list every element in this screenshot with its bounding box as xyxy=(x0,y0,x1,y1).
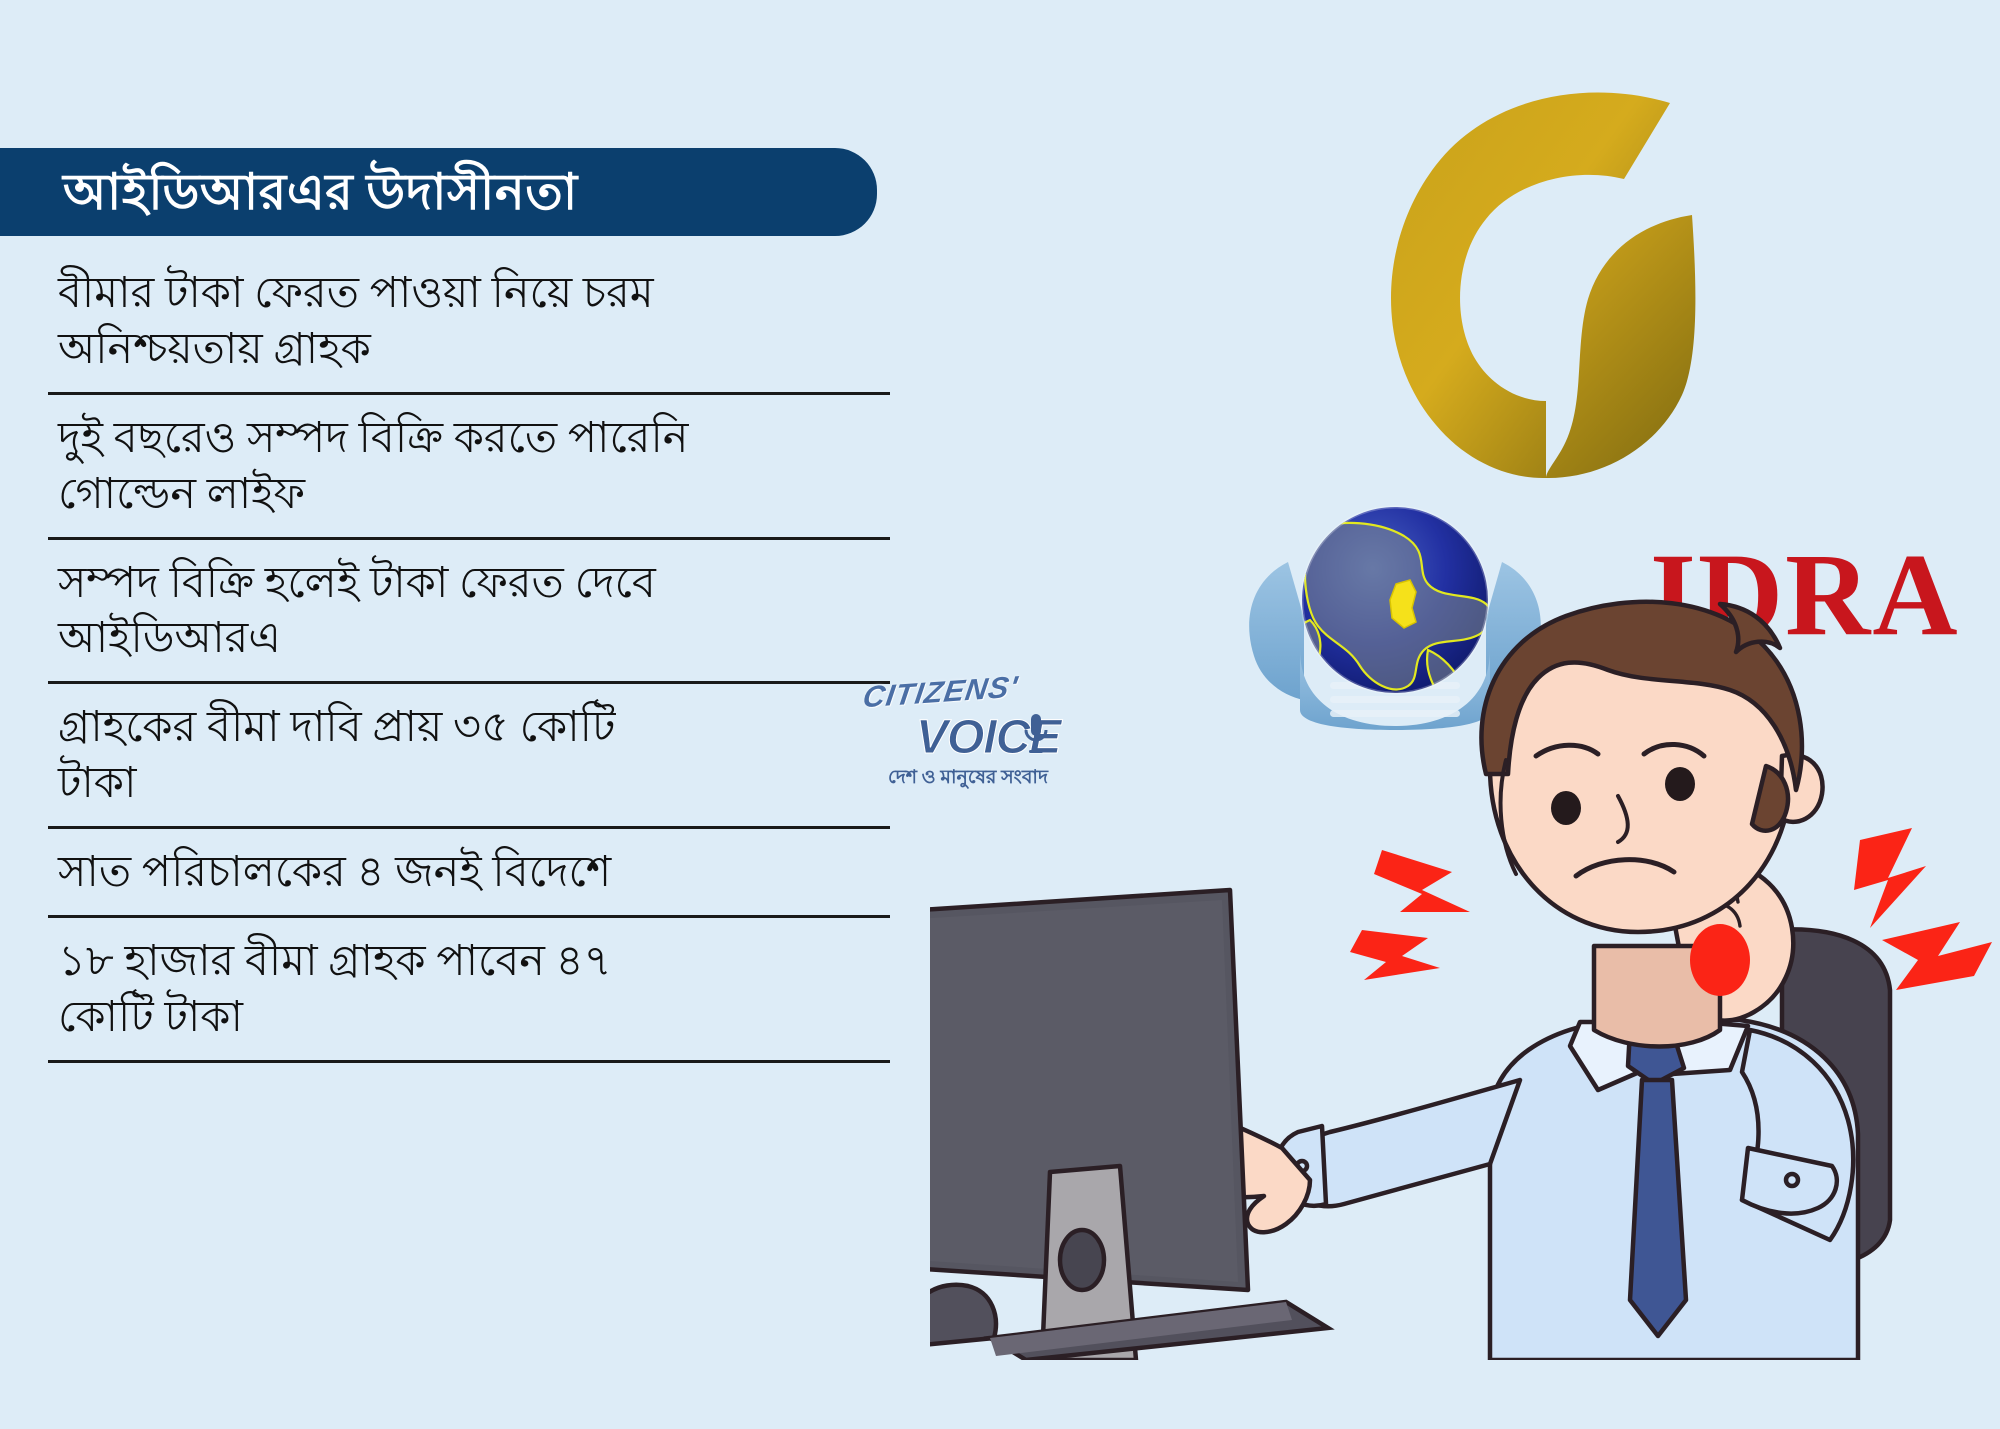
right-eye xyxy=(1665,767,1695,801)
list-item: বীমার টাকা ফেরত পাওয়া নিয়ে চরম অনিশ্চয… xyxy=(0,250,900,395)
list-item: গ্রাহকের বীমা দাবি প্রায় ৩৫ কোটি টাকা xyxy=(0,684,900,829)
list-item: সম্পদ বিক্রি হলেই টাকা ফেরত দেবে আইডিআরএ xyxy=(0,540,900,685)
list-item: ১৮ হাজার বীমা গ্রাহক পাবেন ৪৭ কোটি টাকা xyxy=(0,918,900,1063)
monitor-stand-hole xyxy=(1060,1230,1104,1290)
fact-text: সম্পদ বিক্রি হলেই টাকা ফেরত দেবে আইডিআরএ xyxy=(0,540,900,682)
fact-text: গ্রাহকের বীমা দাবি প্রায় ৩৫ কোটি টাকা xyxy=(0,684,900,826)
fact-text: সাত পরিচালকের ৪ জনই বিদেশে xyxy=(0,829,900,915)
list-item: সাত পরিচালকের ৪ জনই বিদেশে xyxy=(0,829,900,918)
man-with-neck-pain-illustration xyxy=(930,560,2000,1360)
infographic-canvas: আইডিআরএর উদাসীনতা বীমার টাকা ফেরত পাওয়া… xyxy=(0,0,2000,1429)
left-eye xyxy=(1551,791,1581,825)
fact-text: দুই বছরেও সম্পদ বিক্রি করতে পারেনি গোল্ড… xyxy=(0,395,900,537)
fact-text: ১৮ হাজার বীমা গ্রাহক পাবেন ৪৭ কোটি টাকা xyxy=(0,918,900,1060)
list-item: দুই বছরেও সম্পদ বিক্রি করতে পারেনি গোল্ড… xyxy=(0,395,900,540)
page-title: আইডিআরএর উদাসীনতা xyxy=(63,167,578,217)
list-divider xyxy=(48,1060,890,1063)
golden-life-logo xyxy=(1340,55,1760,485)
left-content-panel: আইডিআরএর উদাসীনতা বীমার টাকা ফেরত পাওয়া… xyxy=(0,0,900,1429)
fact-text: বীমার টাকা ফেরত পাওয়া নিয়ে চরম অনিশ্চয… xyxy=(0,250,900,392)
pain-spot xyxy=(1690,924,1750,996)
headline-banner: আইডিআরএর উদাসীনতা xyxy=(0,148,877,236)
pain-bolts-left xyxy=(1350,850,1470,980)
fact-list: বীমার টাকা ফেরত পাওয়া নিয়ে চরম অনিশ্চয… xyxy=(0,250,900,1063)
